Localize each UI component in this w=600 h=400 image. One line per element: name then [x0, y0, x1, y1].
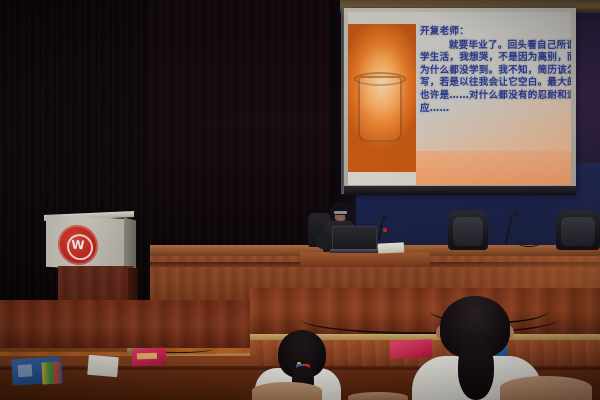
list-item-paper-left [87, 355, 119, 378]
presenter-microphone-head [382, 216, 387, 221]
presenter-glasses [334, 211, 347, 214]
list-item-book-red-right [390, 339, 433, 358]
presenter-hair-left [330, 207, 335, 221]
crest-glyph: W [71, 239, 85, 252]
presenter-arm [317, 233, 329, 249]
slide-title: 开复老师： [420, 26, 571, 39]
table-microphone-head [513, 211, 519, 217]
mic-indicator-light [383, 228, 387, 232]
slide-line-1: 就要毕业了。回头看自己所谓的大 [420, 40, 571, 51]
presenter-desk-front [300, 252, 430, 266]
student-right-ponytail [458, 340, 494, 400]
screen-bottom-shadow [344, 186, 576, 195]
stage-curtain-right [150, 0, 360, 245]
student-foreground-center [348, 392, 408, 400]
presenter-hair-right [345, 207, 350, 221]
list-item-book-red-left [132, 347, 167, 366]
projection-screen: 开复老师： 就要毕业了。回头看自己所谓的大学生活，我想哭，不是因为离别，而是因为… [344, 8, 576, 193]
empty-chair-1 [448, 210, 488, 250]
slide-lower-band [416, 151, 571, 185]
list-item-book-colored [41, 361, 62, 384]
podium-head-side [124, 218, 136, 271]
slide-photo-image [348, 24, 416, 172]
slide-line-2: 学生活，我想哭，不是因为离别，而是 [420, 52, 571, 63]
laptop-base [330, 249, 378, 253]
auditorium-photo: 开复老师： 就要毕业了。回头看自己所谓的大学生活，我想哭，不是因为离别，而是因为… [0, 0, 600, 400]
slide-text-block: 开复老师： 就要毕业了。回头看自己所谓的大学生活，我想哭，不是因为离别，而是因为… [420, 26, 571, 115]
desk-papers [378, 242, 404, 253]
student-foreground-left [252, 382, 322, 400]
table-cable [516, 236, 542, 247]
student-foreground-right [500, 376, 592, 400]
empty-chair-2 [556, 210, 600, 250]
projection-screen-surface: 开复老师： 就要毕业了。回头看自己所谓的大学生活，我想哭，不是因为离别，而是因为… [348, 12, 571, 185]
